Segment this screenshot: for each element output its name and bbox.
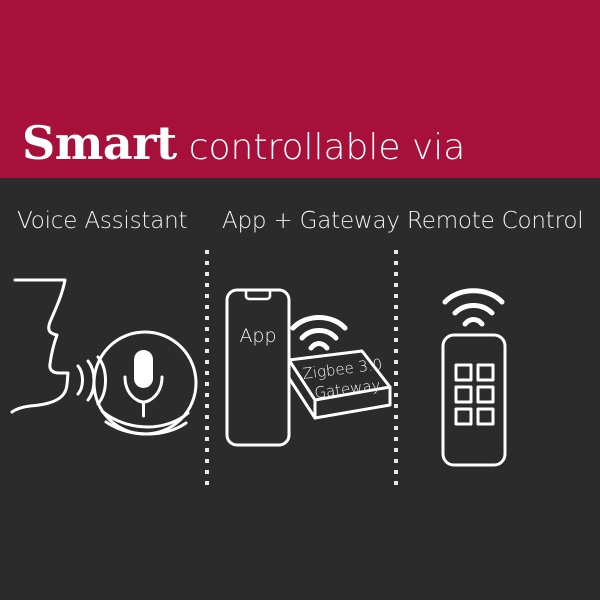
remote-wifi-arc-middle (455, 306, 492, 314)
header-band: Smartcontrollable via (0, 0, 600, 178)
wifi-arc-outer (293, 318, 345, 329)
remote-wifi-arc-outer (445, 291, 502, 302)
remote-button[interactable] (456, 387, 471, 402)
remote-control-illustration (400, 270, 590, 470)
remote-control-icon (400, 270, 590, 470)
remote-button[interactable] (478, 409, 493, 424)
remote-wifi-arc-inner (465, 320, 482, 325)
wifi-arc-inner (311, 344, 327, 349)
remote-button[interactable] (456, 409, 471, 424)
phone-body (227, 290, 289, 445)
voice-assistant-speaker-icon (10, 270, 200, 470)
face-profile-path (12, 280, 68, 412)
smart-control-infographic: Smartcontrollable via Voice Assistant Ap… (0, 0, 600, 600)
column-divider-left (205, 250, 209, 488)
headline: Smartcontrollable via (22, 120, 465, 166)
remote-button[interactable] (478, 365, 493, 380)
remote-body (443, 335, 505, 465)
phone-and-gateway-icon: App Zigbee 3.0 Gateway (215, 270, 395, 470)
phone-app-label: App (239, 325, 276, 347)
remote-button[interactable] (478, 387, 493, 402)
column-title-remote-control: Remote Control (407, 208, 583, 234)
remote-button[interactable] (456, 365, 471, 380)
sound-wave-1 (78, 366, 83, 394)
headline-rest: controllable via (189, 127, 466, 168)
headline-emphasis: Smart (22, 116, 177, 170)
wifi-arc-middle (302, 331, 336, 339)
column-title-voice-assistant: Voice Assistant (17, 208, 187, 234)
voice-assistant-illustration (10, 270, 200, 470)
phone-notch (246, 291, 270, 299)
microphone-capsule (134, 350, 153, 388)
app-gateway-illustration: App Zigbee 3.0 Gateway (215, 270, 395, 470)
column-title-app-gateway: App + Gateway (222, 208, 400, 234)
